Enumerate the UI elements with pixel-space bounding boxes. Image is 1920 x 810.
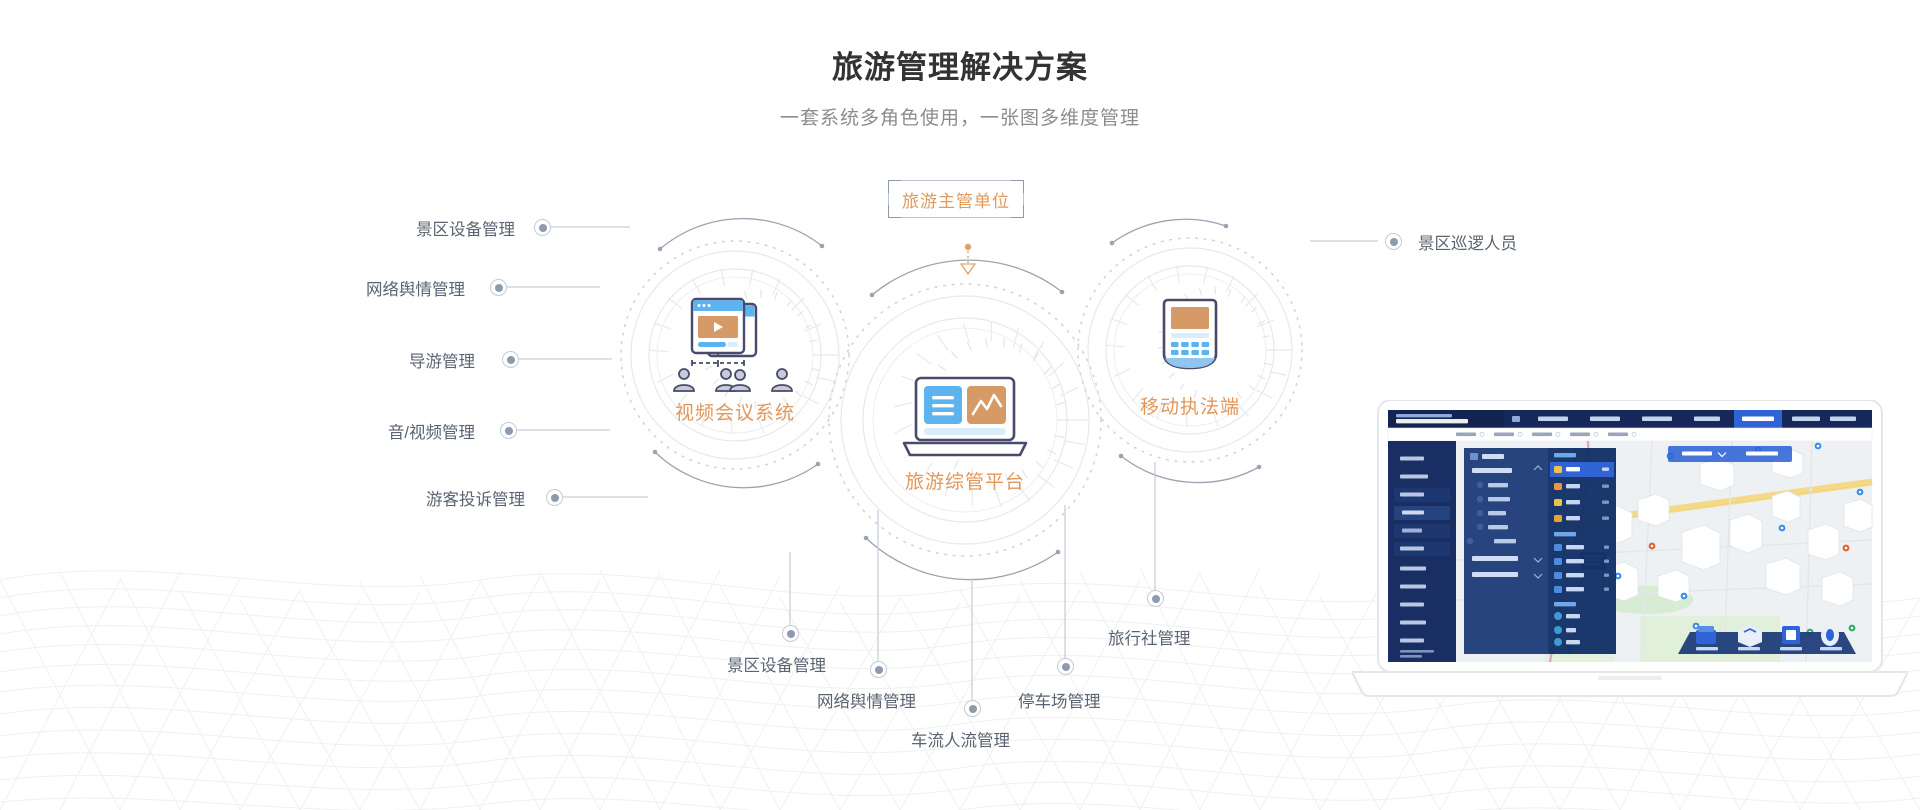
node-label-mobile-enforcement: 移动执法端 <box>1100 392 1280 419</box>
dot-bottom-1[interactable] <box>782 625 799 642</box>
dot-left-5[interactable] <box>546 489 563 506</box>
dot-right-1[interactable] <box>1385 233 1402 250</box>
video-window-icon <box>678 297 790 375</box>
meeting-participants-icon <box>670 366 798 396</box>
page-subtitle: 一套系统多角色使用，一张图多维度管理 <box>0 103 1920 130</box>
label-bottom-travel-agency: 旅行社管理 <box>1108 625 1191 649</box>
page-root: 旅游管理解决方案 一套系统多角色使用，一张图多维度管理 <box>0 0 1920 810</box>
authority-label: 旅游主管单位 <box>888 180 1024 218</box>
dot-bottom-5[interactable] <box>1147 590 1164 607</box>
label-bottom-public-opinion: 网络舆情管理 <box>817 688 916 712</box>
label-right-patrol-staff: 景区巡逻人员 <box>1418 230 1517 254</box>
dashboard-screenshot <box>1388 410 1872 662</box>
label-bottom-parking: 停车场管理 <box>1018 688 1101 712</box>
node-label-tourism-platform: 旅游综管平台 <box>865 467 1065 494</box>
laptop-preview <box>1352 400 1908 700</box>
dot-left-3[interactable] <box>502 351 519 368</box>
label-left-tour-guide: 导游管理 <box>295 348 475 372</box>
dot-bottom-4[interactable] <box>1057 658 1074 675</box>
connectors-left <box>506 227 648 497</box>
label-left-scenic-equipment: 景区设备管理 <box>300 216 515 240</box>
dot-bottom-2[interactable] <box>870 661 887 678</box>
label-bottom-scenic-equipment: 景区设备管理 <box>727 652 826 676</box>
node-label-video-conference: 视频会议系统 <box>635 398 835 425</box>
label-left-av-management: 音/视频管理 <box>270 419 475 443</box>
label-left-visitor-complaint: 游客投诉管理 <box>310 486 525 510</box>
handheld-terminal-icon <box>1158 298 1222 372</box>
label-bottom-traffic-flow: 车流人流管理 <box>911 727 1010 751</box>
dot-left-2[interactable] <box>490 279 507 296</box>
authority-box: 旅游主管单位 <box>888 180 1024 218</box>
laptop-dashboard-icon <box>898 375 1032 463</box>
page-title: 旅游管理解决方案 <box>0 42 1920 87</box>
dot-bottom-3[interactable] <box>964 700 981 717</box>
dot-left-4[interactable] <box>500 422 517 439</box>
dot-left-1[interactable] <box>534 219 551 236</box>
label-left-public-opinion: 网络舆情管理 <box>250 276 465 300</box>
connector-authority-to-platform <box>961 244 975 274</box>
